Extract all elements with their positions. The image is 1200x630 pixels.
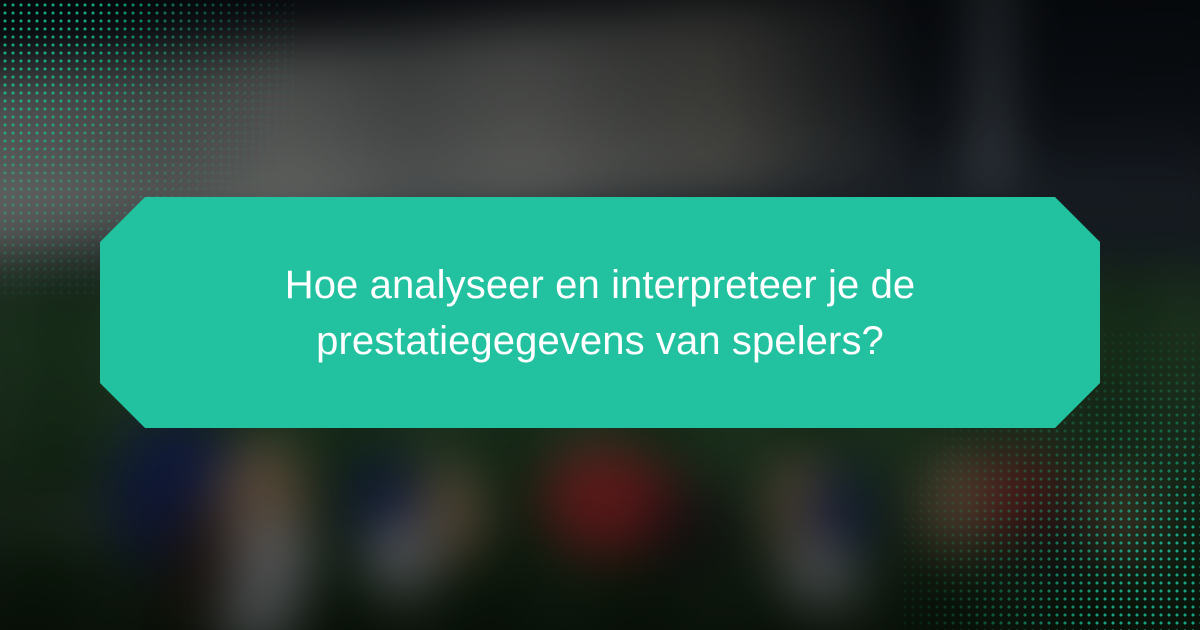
social-share-card: Hoe analyseer en interpreteer je de pres… [0, 0, 1200, 630]
page-title: Hoe analyseer en interpreteer je de pres… [280, 257, 920, 369]
headline-banner: Hoe analyseer en interpreteer je de pres… [100, 197, 1100, 428]
